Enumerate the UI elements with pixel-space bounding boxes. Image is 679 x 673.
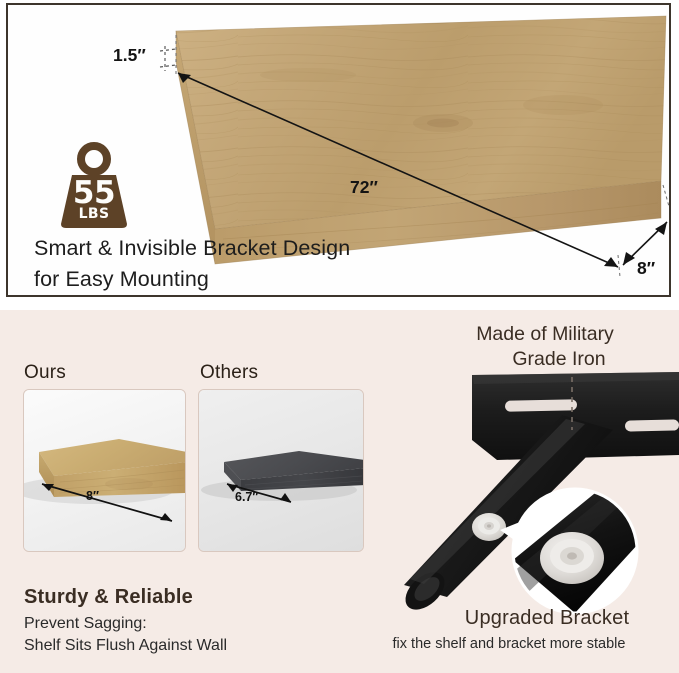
infographic-root: 1.5″ 72″ 8″ 55 LBS Smart & Invisible Bra…	[0, 0, 679, 673]
others-shelf-illustration	[199, 390, 364, 552]
dimension-length-label: 72″	[350, 177, 378, 198]
upgraded-bracket-subtext: fix the shelf and bracket more stable	[340, 636, 678, 652]
upgraded-bracket-title: Upgraded Bracket	[418, 607, 676, 630]
top-panel: 1.5″ 72″ 8″ 55 LBS Smart & Invisible Bra…	[6, 3, 671, 297]
page-title: Smart & Invisible Bracket Design for Eas…	[34, 233, 454, 295]
sturdy-sub-line-2: Shelf Sits Flush Against Wall	[24, 635, 227, 657]
others-dimension-label: 6.7″	[235, 490, 258, 504]
ours-shelf-illustration	[24, 390, 186, 552]
sturdy-subtext: Prevent Sagging: Shelf Sits Flush Agains…	[24, 613, 227, 657]
comparison-card-ours: 8″	[23, 389, 186, 552]
comparison-label-others: Others	[200, 362, 258, 384]
comparison-label-ours: Ours	[24, 362, 66, 384]
iron-title-line-2: Grade Iron	[420, 347, 670, 372]
sturdy-sub-line-1: Prevent Sagging:	[24, 613, 227, 635]
weight-unit: LBS	[53, 206, 135, 222]
iron-title-line-1: Made of Military	[420, 322, 670, 347]
dimension-depth-label: 8″	[637, 258, 655, 279]
dimension-thickness-label: 1.5″	[113, 45, 146, 66]
top-panel-inner: 1.5″ 72″ 8″ 55 LBS Smart & Invisible Bra…	[8, 5, 669, 295]
ours-dimension-label: 8″	[86, 489, 99, 503]
weight-capacity-badge: 55 LBS	[53, 142, 135, 232]
comparison-card-others: 6.7″	[198, 389, 364, 552]
headline-line-1: Smart & Invisible Bracket Design	[34, 236, 350, 260]
iron-material-title: Made of Military Grade Iron	[420, 322, 670, 372]
headline-line-2: for Easy Mounting	[34, 264, 454, 295]
sturdy-title: Sturdy & Reliable	[24, 586, 193, 609]
